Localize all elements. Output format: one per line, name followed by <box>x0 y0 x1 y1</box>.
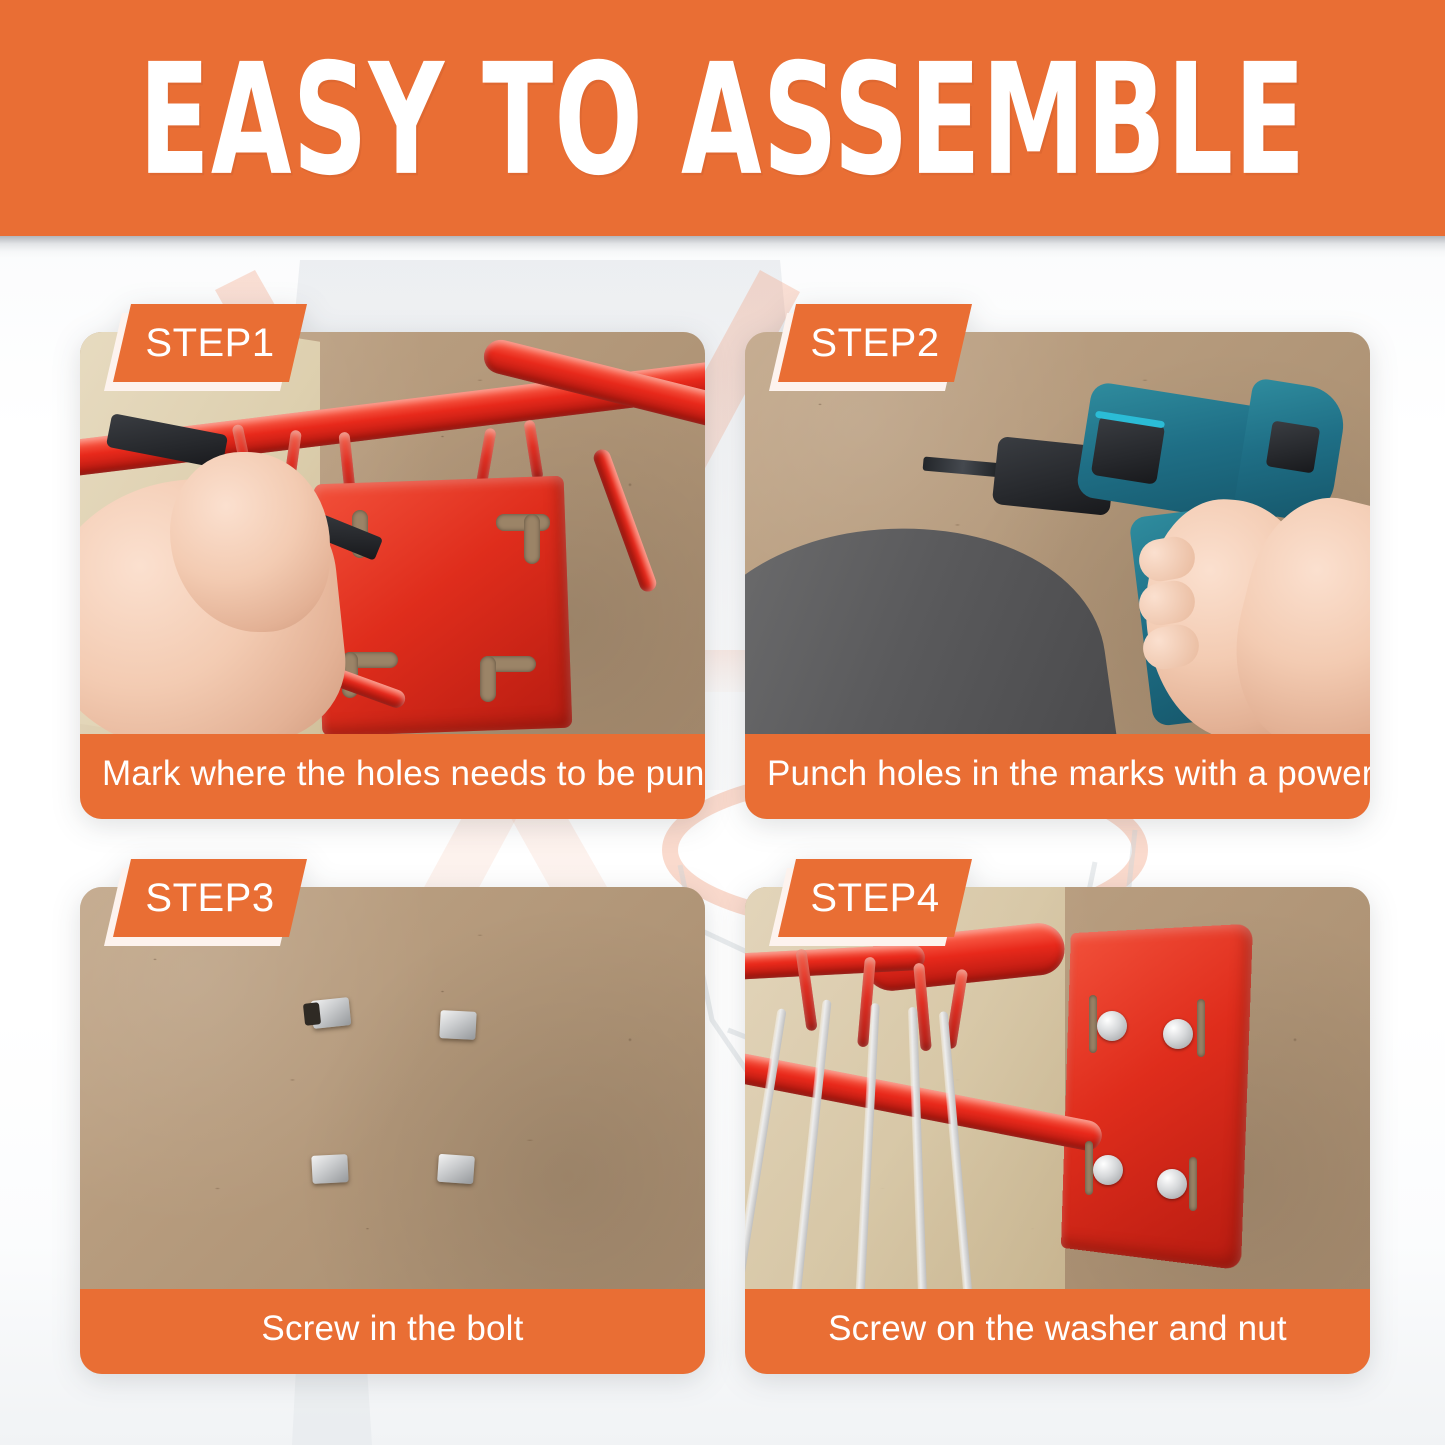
washer-nut-bottom-right <box>1157 1169 1187 1199</box>
step-3-badge: STEP3 <box>122 859 298 937</box>
step-2-badge-label: STEP2 <box>787 304 963 382</box>
infographic-page: EASY TO ASSEMBLE <box>0 0 1445 1445</box>
washer-nut-bottom-left <box>1093 1155 1123 1185</box>
step-panel-2-body: Punch holes in the marks with a power dr… <box>745 332 1370 819</box>
step-1-badge-label: STEP1 <box>122 304 298 382</box>
step-1-photo <box>80 332 705 734</box>
bracket-slot-top-right <box>1197 999 1205 1057</box>
mounted-bracket-plate <box>1061 924 1253 1271</box>
step-panel-3-body: Screw in the bolt <box>80 887 705 1374</box>
steps-grid: Mark where the holes needs to be punched… <box>80 332 1370 1374</box>
mdf-board-surface <box>80 887 705 1289</box>
step-3-caption: Screw in the bolt <box>80 1289 705 1374</box>
step-panel-1-body: Mark where the holes needs to be punched <box>80 332 705 819</box>
bracket-slot-top <box>1089 995 1097 1053</box>
step-2-caption: Punch holes in the marks with a power dr… <box>745 734 1370 819</box>
bracket-slot-bottom-right <box>1189 1157 1197 1211</box>
step-panel-4-body: Screw on the washer and nut <box>745 887 1370 1374</box>
step-panel-2[interactable]: Punch holes in the marks with a power dr… <box>745 332 1370 819</box>
step-panel-3[interactable]: Screw in the bolt STEP3 <box>80 887 705 1374</box>
step-2-badge: STEP2 <box>787 304 963 382</box>
page-title: EASY TO ASSEMBLE <box>58 0 1387 262</box>
step-1-caption: Mark where the holes needs to be punched <box>80 734 705 819</box>
keyhole-slot-top-right <box>496 514 550 531</box>
step-2-photo <box>745 332 1370 734</box>
washer-nut-top-left <box>1097 1011 1127 1041</box>
step-4-photo <box>745 887 1370 1289</box>
keyhole-slot-top-right-stem <box>524 514 540 564</box>
step-3-photo <box>80 887 705 1289</box>
bracket-slot-bottom <box>1085 1141 1093 1195</box>
drill-brushless-plate <box>1266 421 1321 474</box>
bolt-bottom-left <box>311 1154 348 1184</box>
bolt-bottom-right <box>437 1154 475 1184</box>
step-1-badge: STEP1 <box>122 304 298 382</box>
step-panel-1[interactable]: Mark where the holes needs to be punched… <box>80 332 705 819</box>
step-panel-4[interactable]: Screw on the washer and nut STEP4 <box>745 887 1370 1374</box>
bolt-top-left-shadow <box>303 1002 321 1026</box>
bolt-top-right <box>439 1010 476 1040</box>
step-3-badge-label: STEP3 <box>122 859 298 937</box>
step-4-caption: Screw on the washer and nut <box>745 1289 1370 1374</box>
washer-nut-top-right <box>1163 1019 1193 1049</box>
step-4-badge-label: STEP4 <box>787 859 963 937</box>
keyhole-slot-bottom-right-stem <box>480 656 496 702</box>
step-4-badge: STEP4 <box>787 859 963 937</box>
